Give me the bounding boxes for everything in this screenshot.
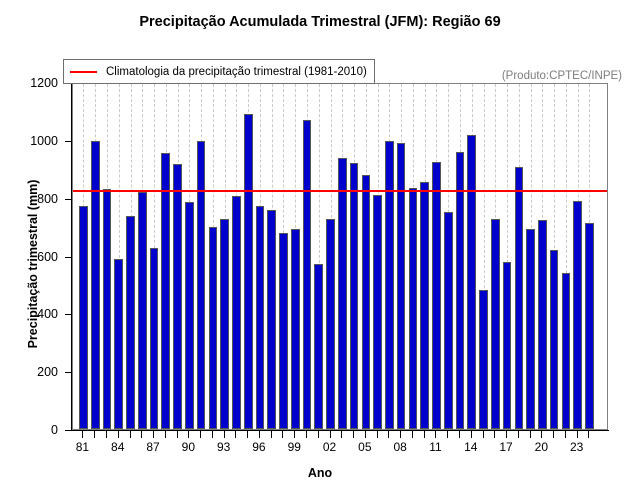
x-tick-mark [400,431,401,438]
x-tick-mark [318,431,319,438]
plot-area [72,83,608,430]
x-tick-mark [377,431,378,438]
x-tick-mark [518,431,519,438]
bar [220,219,229,430]
bar [291,229,300,429]
y-tick-label: 1200 [30,76,58,90]
bar [444,212,453,429]
bar [420,182,429,429]
bar [244,114,253,429]
x-tick-mark [459,431,460,438]
x-tick-label: 14 [464,440,477,454]
bar [409,188,418,429]
bar [573,201,582,429]
x-tick-label: 11 [429,440,441,454]
x-tick-mark [565,431,566,438]
bar [314,264,323,429]
x-tick-label: 93 [217,440,230,454]
x-tick-mark [259,431,260,438]
bar [397,143,406,429]
x-tick-mark [247,431,248,438]
x-tick-mark [130,431,131,438]
x-tick-mark [294,431,295,438]
bar [79,206,88,429]
x-tick-mark [94,431,95,438]
bar [503,262,512,429]
bar [150,248,159,429]
bar [550,250,559,429]
bar [467,135,476,429]
bar [432,162,441,429]
product-annotation: (Produto:CPTEC/INPE) [502,70,622,82]
x-tick-mark [412,431,413,438]
y-tick-label: 800 [37,192,58,206]
x-tick-label: 17 [499,440,512,454]
bar [209,227,218,429]
x-tick-mark [235,431,236,438]
x-tick-mark [506,431,507,438]
bar [267,210,276,429]
y-tick-label: 0 [51,423,58,437]
bar [538,220,547,429]
bar [338,158,347,429]
bar [491,219,500,429]
y-tick-label: 400 [37,307,58,321]
bar [303,120,312,429]
y-axis-line [71,83,72,431]
x-tick-mark [447,431,448,438]
x-tick-mark [588,431,589,438]
x-axis-label: Ano [0,466,640,480]
x-tick-mark [365,431,366,438]
y-tick-label: 600 [37,250,58,264]
x-tick-mark [141,431,142,438]
climatology-reference-line [73,190,607,192]
bar [138,192,147,429]
chart-title: Precipitação Acumulada Trimestral (JFM):… [0,14,640,30]
x-tick-mark [165,431,166,438]
bar [126,216,135,429]
x-tick-label: 81 [76,440,89,454]
x-tick-mark [553,431,554,438]
x-tick-mark [106,431,107,438]
x-tick-mark [212,431,213,438]
x-tick-label: 87 [146,440,159,454]
bar [326,219,335,429]
bar [103,189,112,429]
bar [373,195,382,429]
x-tick-label: 05 [358,440,371,454]
y-axis-label: Precipitação trimestral (mm) [26,134,40,394]
x-tick-mark [530,431,531,438]
y-tick-label: 200 [37,365,58,379]
x-tick-mark [424,431,425,438]
bar [562,273,571,429]
bar [91,141,100,429]
x-tick-mark [271,431,272,438]
bar [479,290,488,429]
x-tick-mark [577,431,578,438]
x-tick-label: 08 [393,440,406,454]
bar [526,229,535,429]
legend-label: Climatologia da precipitação trimestral … [106,66,367,78]
x-tick-mark [118,431,119,438]
x-tick-mark [306,431,307,438]
bar [185,202,194,429]
x-tick-mark [388,431,389,438]
bar [585,223,594,429]
x-tick-mark [330,431,331,438]
x-tick-label: 90 [182,440,195,454]
bar [515,167,524,429]
x-tick-mark [435,431,436,438]
x-tick-label: 96 [252,440,265,454]
x-tick-mark [494,431,495,438]
x-tick-mark [82,431,83,438]
x-tick-mark [541,431,542,438]
x-tick-label: 84 [111,440,124,454]
x-tick-label: 02 [323,440,336,454]
x-tick-label: 23 [570,440,583,454]
bar [173,164,182,429]
x-tick-mark [353,431,354,438]
x-tick-label: 99 [288,440,301,454]
bar [385,141,394,429]
bar [256,206,265,429]
x-tick-mark [200,431,201,438]
x-tick-label: 20 [535,440,548,454]
bar [362,175,371,429]
bar [232,196,241,429]
bar [114,259,123,429]
bar [279,233,288,429]
x-tick-mark [153,431,154,438]
x-tick-mark [224,431,225,438]
bar [161,153,170,429]
legend: Climatologia da precipitação trimestral … [63,59,375,84]
bar-series [73,84,607,429]
x-tick-mark [188,431,189,438]
bar [197,141,206,429]
precipitation-bar-chart: Precipitação Acumulada Trimestral (JFM):… [0,0,640,500]
legend-line-swatch [70,71,97,73]
x-tick-mark [177,431,178,438]
x-tick-mark [483,431,484,438]
x-tick-mark [471,431,472,438]
x-tick-mark [282,431,283,438]
bar [350,163,359,429]
x-tick-mark [341,431,342,438]
bar [456,152,465,429]
